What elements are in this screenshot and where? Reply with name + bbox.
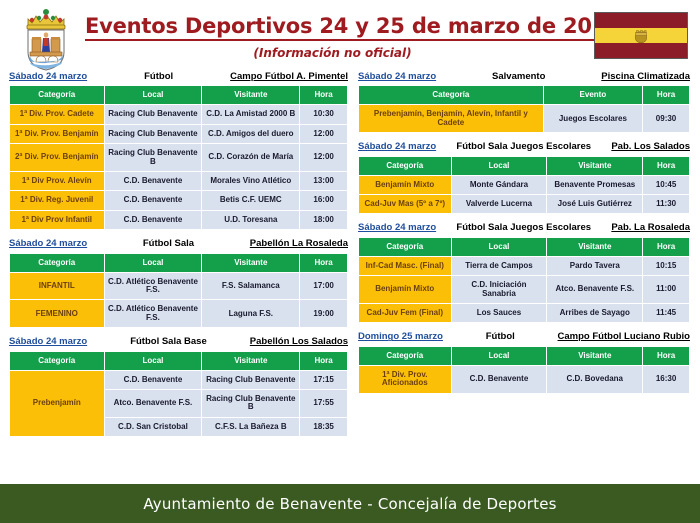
flag-shield-icon	[635, 28, 648, 43]
cell-categoria: 1ª Div. Prov. Aficionados	[359, 366, 451, 393]
schedule-table: Categoría Local Visitante Hora Inf-Cad M…	[358, 237, 690, 324]
table-header-row: Categoría Local Visitante Hora	[10, 352, 347, 370]
table-header-row: Categoría Local Visitante Hora	[359, 157, 689, 175]
cell-categoria: 1ª Div. Prov. Cadete	[10, 105, 104, 123]
section-header: Sábado 24 marzo Fútbol Sala Pabellón La …	[9, 239, 348, 252]
column-header-evento: Evento	[544, 86, 642, 104]
cell-hora: 13:00	[300, 172, 347, 190]
column-header-local: Local	[105, 86, 202, 104]
cell-local: C.D. Atlético Benavente F.S.	[105, 300, 202, 327]
column-header-hora: Hora	[643, 347, 689, 365]
cell-categoria: FEMENINO	[10, 300, 104, 327]
left-column: Sábado 24 marzo Fútbol Campo Fútbol A. P…	[9, 72, 348, 446]
schedule-table: Categoría Local Visitante Hora 1ª Div. P…	[358, 346, 690, 394]
benavente-coat-of-arms-icon	[18, 6, 74, 72]
table-row: Cad-Juv Mas (5º a 7º) Valverde Lucerna J…	[359, 195, 689, 213]
cell-local: Monte Gándara	[452, 176, 547, 194]
column-header-categoria: Categoría	[359, 347, 451, 365]
cell-categoria: 1ª Div. Prov. Benjamín	[10, 125, 104, 143]
cell-categoria-merged: Prebenjamín	[10, 371, 104, 437]
section-venue: Pab. La Rosaleda	[611, 223, 690, 233]
table-row: Inf-Cad Masc. (Final) Tierra de Campos P…	[359, 257, 689, 275]
cell-local: C.D. Atlético Benavente F.S.	[105, 273, 202, 300]
section-date: Domingo 25 marzo	[358, 332, 443, 342]
spanish-flag-icon	[594, 12, 688, 59]
table-row: Prebenjamín C.D. Benavente Racing Club B…	[10, 371, 347, 389]
cell-hora: 12:00	[300, 144, 347, 171]
table-row: 1ª Div. Prov. Benjamín Racing Club Benav…	[10, 125, 347, 143]
schedule-table: Categoría Local Visitante Hora INFANTIL …	[9, 253, 348, 329]
cell-local: C.D. Benavente	[452, 366, 547, 393]
cell-hora: 09:30	[643, 105, 689, 132]
table-row: 1ª Div. Prov. Cadete Racing Club Benaven…	[10, 105, 347, 123]
cell-visitante: U.D. Toresana	[202, 211, 299, 229]
section-date: Sábado 24 marzo	[358, 223, 436, 233]
table-header-row: Categoría Local Visitante Hora	[10, 254, 347, 272]
cell-hora: 16:00	[300, 191, 347, 209]
section-venue: Pab. Los Salados	[611, 142, 690, 152]
column-header-local: Local	[452, 157, 547, 175]
section-futbol-luciano-rubio: Domingo 25 marzo Fútbol Campo Fútbol Luc…	[358, 332, 690, 393]
cell-visitante: Laguna F.S.	[202, 300, 299, 327]
section-venue: Campo Fútbol A. Pimentel	[230, 72, 348, 82]
column-header-visitante: Visitante	[202, 352, 299, 370]
cell-categoria: INFANTIL	[10, 273, 104, 300]
cell-local: Valverde Lucerna	[452, 195, 547, 213]
page-footer: Ayuntamiento de Benavente - Concejalía d…	[0, 484, 700, 523]
cell-evento: Juegos Escolares	[544, 105, 642, 132]
cell-hora: 12:00	[300, 125, 347, 143]
cell-visitante: Benavente Promesas	[547, 176, 642, 194]
section-header: Sábado 24 marzo Salvamento Piscina Clima…	[358, 72, 690, 85]
section-header: Sábado 24 marzo Fútbol Sala Base Pabelló…	[9, 337, 348, 350]
cell-visitante: Betis C.F. UEMC	[202, 191, 299, 209]
cell-local: Los Sauces	[452, 304, 547, 322]
table-row: 2ª Div. Prov. Benjamín Racing Club Benav…	[10, 144, 347, 171]
cell-local: Racing Club Benavente B	[105, 144, 202, 171]
cell-local: C.D. Iniciación Sanabria	[452, 276, 547, 303]
column-header-hora: Hora	[643, 157, 689, 175]
section-sport: Fútbol	[443, 332, 558, 342]
cell-hora: 18:35	[300, 418, 347, 436]
column-header-visitante: Visitante	[202, 86, 299, 104]
column-header-hora: Hora	[300, 352, 347, 370]
table-row: 1ª Div. Reg. Juvenil C.D. Benavente Beti…	[10, 191, 347, 209]
column-header-visitante: Visitante	[547, 347, 642, 365]
cell-visitante: C.D. Amigos del duero	[202, 125, 299, 143]
cell-categoria: 1ª Div. Reg. Juvenil	[10, 191, 104, 209]
cell-local: Tierra de Campos	[452, 257, 547, 275]
table-row: INFANTIL C.D. Atlético Benavente F.S. F.…	[10, 273, 347, 300]
cell-hora: 11:00	[643, 276, 689, 303]
column-header-visitante: Visitante	[202, 254, 299, 272]
page-header: Eventos Deportivos 24 y 25 de marzo de 2…	[0, 0, 700, 72]
section-date: Sábado 24 marzo	[358, 142, 436, 152]
column-header-hora: Hora	[300, 86, 347, 104]
cell-categoria: Cad-Juv Mas (5º a 7º)	[359, 195, 451, 213]
table-header-row: Categoría Evento Hora	[359, 86, 689, 104]
table-header-row: Categoría Local Visitante Hora	[359, 347, 689, 365]
cell-visitante: Morales Vino Atlético	[202, 172, 299, 190]
cell-hora: 17:00	[300, 273, 347, 300]
cell-categoria: 2ª Div. Prov. Benjamín	[10, 144, 104, 171]
table-header-row: Categoría Local Visitante Hora	[10, 86, 347, 104]
section-venue: Piscina Climatizada	[601, 72, 690, 82]
page-title: Eventos Deportivos 24 y 25 de marzo de 2…	[85, 14, 621, 41]
column-header-hora: Hora	[643, 86, 689, 104]
section-venue: Pabellón Los Salados	[250, 337, 348, 347]
cell-hora: 11:30	[643, 195, 689, 213]
table-row: Prebenjamín, Benjamín, Alevín, Infantil …	[359, 105, 689, 132]
column-header-categoria: Categoría	[359, 86, 543, 104]
cell-visitante: José Luis Gutiérrez	[547, 195, 642, 213]
cell-hora: 10:30	[300, 105, 347, 123]
schedule-table: Categoría Local Visitante Hora Benjamín …	[358, 156, 690, 215]
schedule-table: Categoría Local Visitante Hora 1ª Div. P…	[9, 85, 348, 230]
section-sport: Fútbol Sala Juegos Escolares	[436, 223, 611, 233]
cell-categoria: Prebenjamín, Benjamín, Alevín, Infantil …	[359, 105, 543, 132]
section-sport: Fútbol Sala Juegos Escolares	[436, 142, 611, 152]
cell-categoria: 1ª Div Prov Infantil	[10, 211, 104, 229]
table-row: Cad-Juv Fem (Final) Los Sauces Arribes d…	[359, 304, 689, 322]
section-date: Sábado 24 marzo	[9, 337, 87, 347]
cell-local: Racing Club Benavente	[105, 105, 202, 123]
table-row: 1ª Div Prov. Alevín C.D. Benavente Moral…	[10, 172, 347, 190]
column-header-categoria: Categoría	[10, 86, 104, 104]
cell-visitante: Racing Club Benavente B	[202, 390, 299, 417]
cell-visitante: Racing Club Benavente	[202, 371, 299, 389]
footer-text: Ayuntamiento de Benavente - Concejalía d…	[143, 495, 556, 513]
cell-categoria: Inf-Cad Masc. (Final)	[359, 257, 451, 275]
right-column: Sábado 24 marzo Salvamento Piscina Clima…	[358, 72, 690, 403]
cell-visitante: C.D. Corazón de María	[202, 144, 299, 171]
cell-visitante: C.D. La Amistad 2000 B	[202, 105, 299, 123]
cell-local: C.D. Benavente	[105, 211, 202, 229]
table-row: Benjamín Mixto Monte Gándara Benavente P…	[359, 176, 689, 194]
section-fs-juegos-salados: Sábado 24 marzo Fútbol Sala Juegos Escol…	[358, 142, 690, 214]
cell-categoria: Benjamín Mixto	[359, 276, 451, 303]
cell-hora: 17:55	[300, 390, 347, 417]
section-salvamento: Sábado 24 marzo Salvamento Piscina Clima…	[358, 72, 690, 133]
column-header-visitante: Visitante	[547, 238, 642, 256]
cell-hora: 17:15	[300, 371, 347, 389]
section-sport: Salvamento	[436, 72, 601, 82]
column-header-hora: Hora	[300, 254, 347, 272]
cell-hora: 16:30	[643, 366, 689, 393]
cell-hora: 10:45	[643, 176, 689, 194]
table-header-row: Categoría Local Visitante Hora	[359, 238, 689, 256]
section-header: Sábado 24 marzo Fútbol Campo Fútbol A. P…	[9, 72, 348, 85]
section-header: Domingo 25 marzo Fútbol Campo Fútbol Luc…	[358, 332, 690, 345]
section-date: Sábado 24 marzo	[358, 72, 436, 82]
section-futbol-sala-rosaleda: Sábado 24 marzo Fútbol Sala Pabellón La …	[9, 239, 348, 328]
cell-visitante: C.D. Bovedana	[547, 366, 642, 393]
schedule-columns: Sábado 24 marzo Fútbol Campo Fútbol A. P…	[0, 72, 700, 484]
section-date: Sábado 24 marzo	[9, 72, 87, 82]
column-header-categoria: Categoría	[359, 238, 451, 256]
section-date: Sábado 24 marzo	[9, 239, 87, 249]
column-header-categoria: Categoría	[10, 254, 104, 272]
section-futbol-sala-base: Sábado 24 marzo Fútbol Sala Base Pabelló…	[9, 337, 348, 437]
schedule-table: Categoría Local Visitante Hora Prebenjam…	[9, 351, 348, 438]
cell-visitante: C.F.S. La Bañeza B	[202, 418, 299, 436]
section-header: Sábado 24 marzo Fútbol Sala Juegos Escol…	[358, 142, 690, 155]
column-header-local: Local	[105, 254, 202, 272]
table-row: 1ª Div. Prov. Aficionados C.D. Benavente…	[359, 366, 689, 393]
cell-hora: 18:00	[300, 211, 347, 229]
cell-visitante: Arribes de Sayago	[547, 304, 642, 322]
cell-local: C.D. Benavente	[105, 371, 202, 389]
column-header-local: Local	[452, 347, 547, 365]
cell-categoria: Benjamín Mixto	[359, 176, 451, 194]
column-header-local: Local	[452, 238, 547, 256]
section-sport: Fútbol	[87, 72, 230, 82]
title-block: Eventos Deportivos 24 y 25 de marzo de 2…	[85, 14, 580, 60]
column-header-categoria: Categoría	[10, 352, 104, 370]
column-header-hora: Hora	[643, 238, 689, 256]
cell-categoria: 1ª Div Prov. Alevín	[10, 172, 104, 190]
cell-local: Racing Club Benavente	[105, 125, 202, 143]
cell-visitante: F.S. Salamanca	[202, 273, 299, 300]
column-header-local: Local	[105, 352, 202, 370]
section-header: Sábado 24 marzo Fútbol Sala Juegos Escol…	[358, 223, 690, 236]
cell-local: C.D. Benavente	[105, 172, 202, 190]
table-row: 1ª Div Prov Infantil C.D. Benavente U.D.…	[10, 211, 347, 229]
column-header-visitante: Visitante	[547, 157, 642, 175]
cell-hora: 19:00	[300, 300, 347, 327]
schedule-table: Categoría Evento Hora Prebenjamín, Benja…	[358, 85, 690, 133]
table-row: Benjamín Mixto C.D. Iniciación Sanabria …	[359, 276, 689, 303]
cell-local: C.D. Benavente	[105, 191, 202, 209]
cell-local: Atco. Benavente F.S.	[105, 390, 202, 417]
cell-hora: 11:45	[643, 304, 689, 322]
page-subtitle: (Información no oficial)	[85, 46, 580, 60]
cell-visitante: Pardo Tavera	[547, 257, 642, 275]
section-futbol-pimentel: Sábado 24 marzo Fútbol Campo Fútbol A. P…	[9, 72, 348, 230]
cell-categoria: Cad-Juv Fem (Final)	[359, 304, 451, 322]
section-sport: Fútbol Sala Base	[87, 337, 250, 347]
section-venue: Pabellón La Rosaleda	[250, 239, 348, 249]
cell-hora: 10:15	[643, 257, 689, 275]
section-fs-juegos-rosaleda: Sábado 24 marzo Fútbol Sala Juegos Escol…	[358, 223, 690, 323]
column-header-categoria: Categoría	[359, 157, 451, 175]
section-sport: Fútbol Sala	[87, 239, 250, 249]
cell-local: C.D. San Cristobal	[105, 418, 202, 436]
cell-visitante: Atco. Benavente F.S.	[547, 276, 642, 303]
section-venue: Campo Fútbol Luciano Rubio	[558, 332, 690, 342]
table-row: FEMENINO C.D. Atlético Benavente F.S. La…	[10, 300, 347, 327]
